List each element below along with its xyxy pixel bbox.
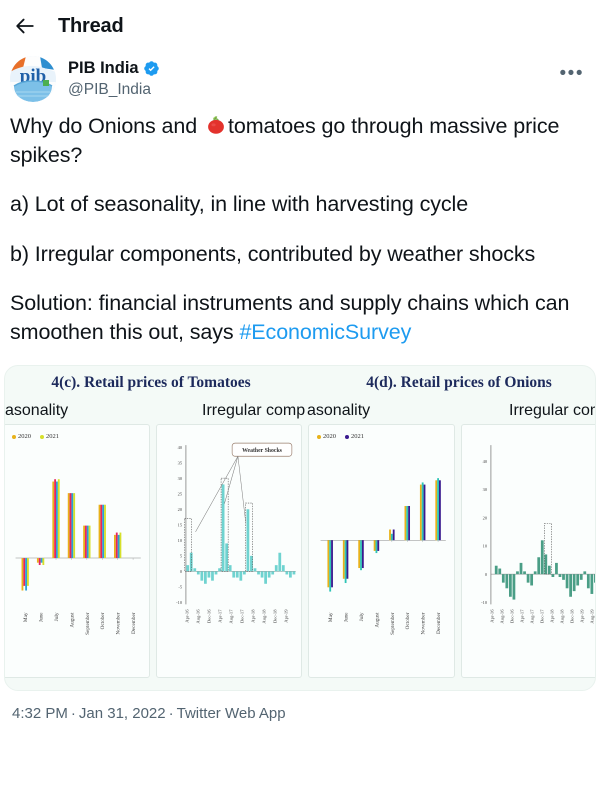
svg-text:October: October [405,613,411,630]
svg-text:September: September [390,613,396,636]
svg-text:August: August [374,612,380,628]
chart-tomato-irregular: 4035302520151050-5-10Apr-16Aug-16Dec-16A… [157,425,302,677]
svg-text:15: 15 [177,523,182,528]
legend-item-onion-2021: 2021 [345,433,364,440]
svg-text:Aug-17: Aug-17 [228,609,233,624]
svg-text:40: 40 [482,459,487,464]
tweet-date: Jan 31, 2022 [79,705,166,722]
svg-text:Aug-19: Aug-19 [589,609,594,624]
svg-text:Apr-18: Apr-18 [549,609,554,623]
svg-text:30: 30 [482,487,487,492]
legend-tomato-seasonality: 2020 2021 [12,433,59,440]
author-meta: PIB India @PIB_India [68,56,160,99]
svg-text:5: 5 [179,554,182,559]
back-arrow-icon[interactable] [14,15,36,37]
svg-text:Aug-16: Aug-16 [499,609,504,624]
footer-separator-2: · [166,705,177,722]
svg-text:October: October [100,613,106,630]
svg-text:July: July [54,612,60,621]
tweet-paragraph-2: a) Lot of seasonality, in line with harv… [10,190,588,219]
figure-canvas: 4(c). Retail prices of Tomatoes 4(d). Re… [4,366,596,690]
figure-titles: 4(c). Retail prices of Tomatoes 4(d). Re… [4,366,596,400]
svg-text:-10: -10 [176,600,183,605]
svg-text:Dec-18: Dec-18 [569,609,574,623]
svg-text:Apr-17: Apr-17 [217,609,222,623]
page-title: Thread [58,15,123,38]
avatar[interactable]: pib [10,56,56,102]
svg-text:Apr-16: Apr-16 [184,609,189,623]
figure-title-tomatoes: 4(c). Retail prices of Tomatoes [4,374,305,400]
legend-item-2021: 2021 [40,433,59,440]
thread-header: Thread [0,0,600,52]
legend-item-2020: 2020 [12,433,31,440]
svg-text:10: 10 [177,538,182,543]
tweet-paragraph-1: Why do Onions and tomatoes go through ma… [10,112,588,170]
svg-text:Aug-18: Aug-18 [559,609,564,624]
svg-text:35: 35 [177,461,182,466]
subtitle-tomato-irregular: Irregular comp [202,402,305,420]
svg-text:December: December [131,613,137,635]
svg-text:Dec-16: Dec-16 [509,609,514,623]
svg-text:Apr-18: Apr-18 [250,609,255,623]
figure-subtitles: asonality Irregular comp asonality Irreg… [4,400,596,422]
svg-text:Apr-17: Apr-17 [519,609,524,623]
svg-text:Apr-19: Apr-19 [283,609,288,623]
svg-text:July: July [359,612,365,621]
legend-swatch-2021 [40,435,44,439]
svg-text:-10: -10 [481,600,488,605]
tweet-p1-before: Why do Onions and [10,114,203,138]
svg-text:Dec-16: Dec-16 [206,609,211,623]
svg-text:Apr-16: Apr-16 [489,609,494,623]
svg-text:Apr-19: Apr-19 [579,609,584,623]
chart-onion-seasonality: MayJuneJulyAugustSeptemberOctoberNovembe… [309,425,454,677]
author-handle[interactable]: @PIB_India [68,80,160,99]
panel-tomato-irregular[interactable]: 4035302520151050-5-10Apr-16Aug-16Dec-16A… [156,424,303,678]
svg-text:Weather Shocks: Weather Shocks [242,448,282,454]
tweet-source[interactable]: Twitter Web App [177,705,286,722]
legend-label-onion-2021: 2021 [351,433,364,440]
panel-onion-seasonality[interactable]: 2020 2021 MayJuneJulyAugustSeptemberOcto… [308,424,455,678]
svg-text:Dec-18: Dec-18 [272,609,277,623]
tweet-media-image[interactable]: 4(c). Retail prices of Tomatoes 4(d). Re… [4,365,596,691]
figure-panels: 2020 2021 MayJuneJulyAugustSeptemberOcto… [4,422,596,684]
svg-text:September: September [85,613,91,636]
legend-label-2020: 2020 [18,433,31,440]
svg-text:Dec-17: Dec-17 [539,609,544,623]
verified-badge-icon [143,60,160,77]
chart-tomato-seasonality: MayJuneJulyAugustSeptemberOctoberNovembe… [4,425,149,677]
svg-text:0: 0 [484,572,487,577]
legend-swatch-onion-2021 [345,435,349,439]
svg-text:Aug-17: Aug-17 [529,609,534,624]
legend-label-onion-2020: 2020 [323,433,336,440]
svg-text:May: May [328,612,334,622]
tweet-paragraph-3: b) Irregular components, contributed by … [10,240,588,269]
svg-text:-5: -5 [178,585,182,590]
author-name-line: PIB India [68,58,160,79]
svg-text:August: August [69,612,75,628]
legend-onion-seasonality: 2020 2021 [317,433,364,440]
svg-text:November: November [421,613,427,635]
svg-text:0: 0 [179,569,182,574]
tweet-footer: 4:32 PM·Jan 31, 2022·Twitter Web App [0,691,600,722]
legend-label-2021: 2021 [46,433,59,440]
hashtag-economicsurvey[interactable]: #EconomicSurvey [239,320,411,344]
legend-swatch-2020 [12,435,16,439]
svg-text:20: 20 [482,516,487,521]
svg-text:20: 20 [177,507,182,512]
svg-text:Aug-16: Aug-16 [195,609,200,624]
tweet-author-row: pib PIB India @PIB_India ••• [0,52,600,102]
panel-onion-irregular[interactable]: 403020100-10Apr-16Aug-16Dec-16Apr-17Aug-… [461,424,597,678]
legend-swatch-onion-2020 [317,435,321,439]
more-options-icon[interactable]: ••• [560,64,584,83]
svg-text:June: June [39,612,45,622]
svg-text:Aug-18: Aug-18 [261,609,266,624]
svg-text:30: 30 [177,476,182,481]
author-name[interactable]: PIB India [68,58,139,79]
subtitle-onion-irregular: Irregular comp [509,402,596,420]
footer-separator-1: · [68,705,79,722]
svg-text:June: June [344,612,350,622]
svg-text:May: May [23,612,29,622]
svg-text:10: 10 [482,544,487,549]
tweet-text: Why do Onions and tomatoes go through ma… [0,102,600,353]
svg-text:40: 40 [177,445,182,450]
chart-onion-irregular: 403020100-10Apr-16Aug-16Dec-16Apr-17Aug-… [462,425,597,677]
figure-title-onions: 4(d). Retail prices of Onions [305,374,596,400]
tweet-paragraph-4: Solution: financial instruments and supp… [10,289,588,347]
svg-text:December: December [436,613,442,635]
svg-text:November: November [116,613,122,635]
tweet-time: 4:32 PM [12,705,68,722]
svg-text:Dec-17: Dec-17 [239,609,244,623]
tomato-emoji [205,114,227,136]
subtitle-tomato-seasonality: asonality [5,402,68,420]
subtitle-onion-seasonality: asonality [307,402,370,420]
svg-text:25: 25 [177,492,182,497]
legend-item-onion-2020: 2020 [317,433,336,440]
panel-tomato-seasonality[interactable]: 2020 2021 MayJuneJulyAugustSeptemberOcto… [4,424,150,678]
